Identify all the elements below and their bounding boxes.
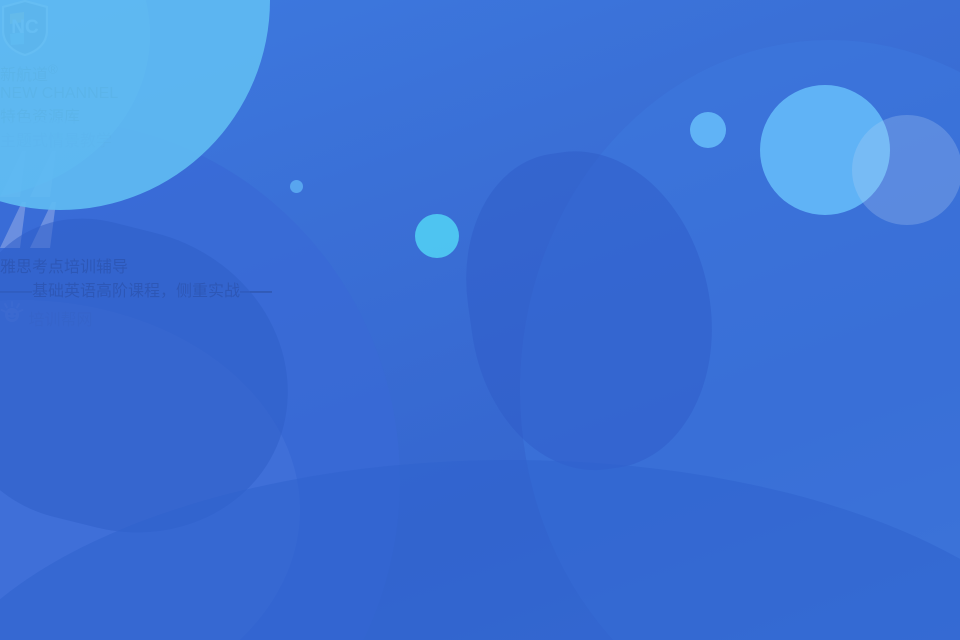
- quote-open-glyph-2: [30, 184, 56, 201]
- quote-close-icon: [0, 202, 960, 253]
- page-title: 雅思考点培训辅导: [0, 253, 960, 277]
- bg-shape-bottom-sweep: [0, 460, 960, 640]
- quote-close-glyph-1: [0, 235, 30, 252]
- shield-nc-icon: NC: [0, 0, 960, 61]
- feature-tag-resource-library[interactable]: 特色资源库: [0, 103, 960, 127]
- quote-close-glyph-2: [30, 235, 56, 252]
- logo-name-cn: 新航道®: [0, 61, 960, 85]
- svg-text:NC: NC: [11, 17, 39, 38]
- logo-name-en: NEW CHANNEL: [0, 85, 960, 103]
- feature-tag-list: 特色资源库 主题式情景教学: [0, 103, 960, 151]
- quote-open-glyph-1: [0, 184, 30, 201]
- watermark-label: 培训帮网: [28, 312, 92, 329]
- logo-text: 新航道® NEW CHANNEL: [0, 61, 960, 103]
- bg-shape-left-sweep-2: [0, 300, 300, 640]
- site-watermark: 培训帮网: [0, 301, 960, 330]
- sun-face-icon: [0, 312, 28, 329]
- promo-banner: NC 新航道® NEW CHANNEL 特色资源库 主题式情景教学 雅思考点培训…: [0, 0, 960, 640]
- subtitle-banner: ——基础英语高阶课程，侧重实战——: [0, 277, 960, 301]
- registered-mark-icon: ®: [48, 62, 58, 77]
- quote-open-icon: [0, 151, 960, 202]
- feature-tag-scenario-teaching[interactable]: 主题式情景教学: [0, 127, 960, 151]
- logo-name-cn-text: 新航道: [0, 67, 48, 84]
- brand-logo[interactable]: NC 新航道® NEW CHANNEL: [0, 0, 960, 103]
